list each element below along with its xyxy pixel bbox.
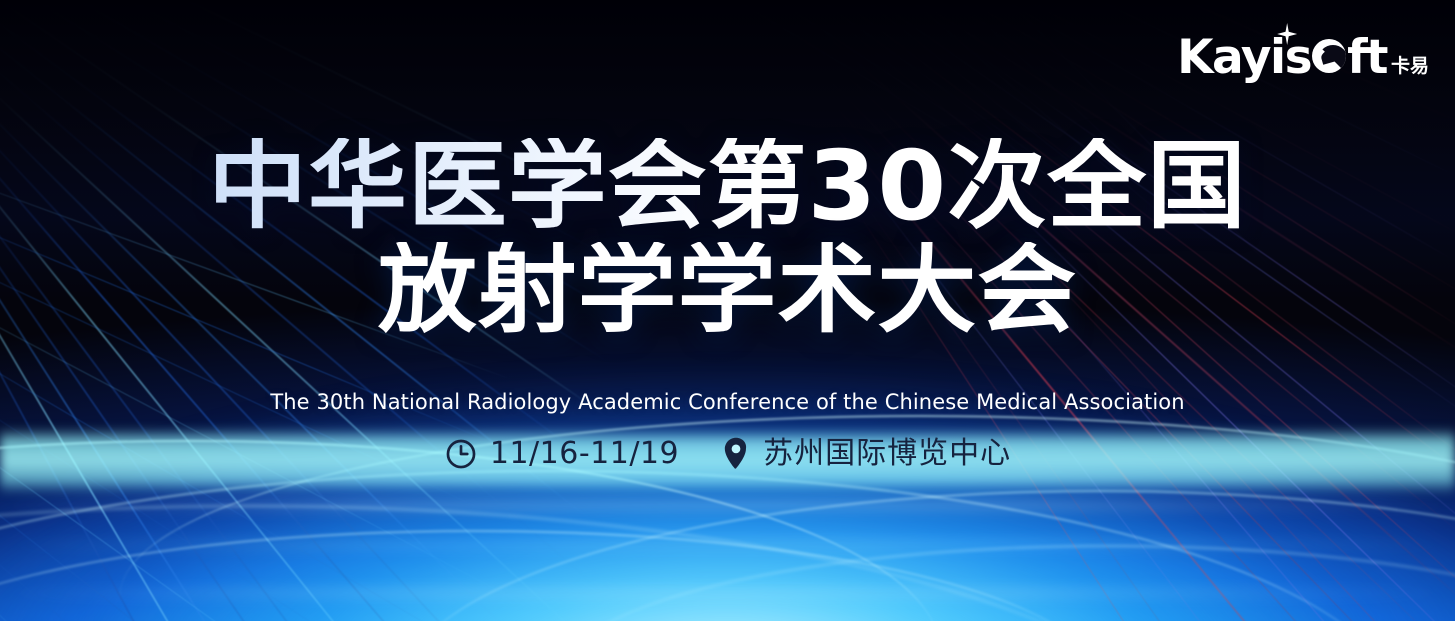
conference-subtitle-english: The 30th National Radiology Academic Con…: [0, 390, 1455, 414]
banner-content: Kayis ft 卡易 中华医学会第30次全国 放射学学术大会 The 30th…: [0, 0, 1455, 621]
conference-venue-value: 苏州国际博览中心: [763, 439, 1011, 469]
conference-venue: 苏州国际博览中心: [721, 437, 1011, 471]
conference-date: 11/16-11/19: [444, 437, 679, 471]
brand-logo-o-glyph: [1312, 39, 1346, 73]
map-pin-icon: [721, 437, 751, 471]
clock-icon: [444, 437, 478, 471]
conference-title: 中华医学会第30次全国 放射学学术大会: [0, 138, 1455, 338]
conference-banner: Kayis ft 卡易 中华医学会第30次全国 放射学学术大会 The 30th…: [0, 0, 1455, 621]
brand-logo-chinese: 卡易: [1391, 57, 1429, 76]
brand-logo-text-post: ft: [1347, 34, 1387, 81]
brand-logo-wordmark: Kayis ft: [1177, 34, 1387, 81]
brand-logo[interactable]: Kayis ft 卡易: [1177, 34, 1429, 81]
title-line-2: 放射学学术大会: [0, 242, 1455, 338]
conference-date-value: 11/16-11/19: [490, 439, 679, 469]
title-line-1: 中华医学会第30次全国: [0, 138, 1455, 234]
brand-logo-text-pre: Kayis: [1177, 34, 1311, 81]
conference-info-row: 11/16-11/19 苏州国际博览中心: [0, 437, 1455, 471]
